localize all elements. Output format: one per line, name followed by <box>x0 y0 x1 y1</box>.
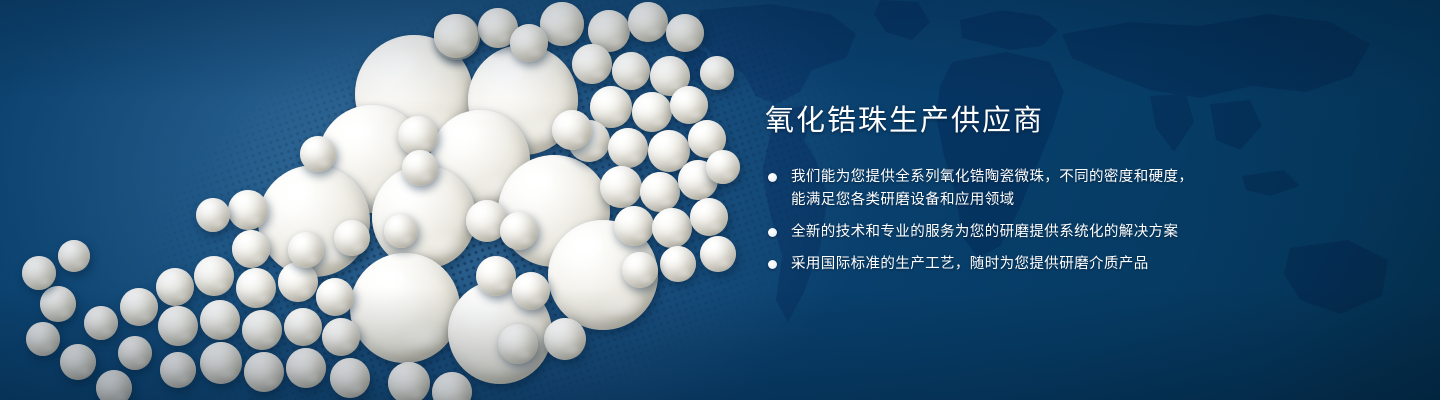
bead-medium <box>700 56 734 90</box>
bead-medium <box>700 236 736 272</box>
bead-medium <box>200 300 240 340</box>
bead-medium <box>118 336 152 370</box>
bead-medium <box>96 370 132 400</box>
bead-medium <box>334 220 370 256</box>
bead-medium <box>632 92 672 132</box>
bead-medium <box>628 2 668 42</box>
bead-medium <box>666 14 704 52</box>
bead-medium <box>84 306 118 340</box>
bead-medium <box>156 268 194 306</box>
bead-medium <box>60 344 96 380</box>
bead-medium <box>26 322 60 356</box>
bead-medium <box>158 306 198 346</box>
page-title: 氧化锆珠生产供应商 <box>765 104 1365 138</box>
bead-medium <box>690 198 728 236</box>
feature-text-line1: 全新的技术和专业的服务为您的研磨提供系统化的解决方案 <box>791 224 1178 240</box>
bead-medium <box>622 252 658 288</box>
bead-medium <box>300 136 336 172</box>
feature-list: 我们能为您提供全系列氧化锆陶瓷微珠，不同的密度和硬度， 能满足您各类研磨设备和应… <box>765 166 1365 276</box>
bead-medium <box>660 246 696 282</box>
bead-medium <box>242 310 282 350</box>
bullet-dot-icon <box>768 228 777 237</box>
bead-medium <box>228 190 268 230</box>
bullet-dot-icon <box>768 173 777 182</box>
bead-medium <box>402 150 438 186</box>
bead-medium <box>544 318 586 360</box>
banner-copy: 氧化锆珠生产供应商 我们能为您提供全系列氧化锆陶瓷微珠，不同的密度和硬度， 能满… <box>765 104 1365 285</box>
bead-medium <box>288 232 324 268</box>
bead-medium <box>322 318 360 356</box>
bead-medium <box>388 362 430 400</box>
bead-medium <box>58 240 90 272</box>
bead-medium <box>120 288 158 326</box>
bead-medium <box>330 358 370 398</box>
bead-medium <box>286 348 326 388</box>
bead-medium <box>670 86 708 124</box>
bead-medium <box>200 342 242 384</box>
list-item: 我们能为您提供全系列氧化锆陶瓷微珠，不同的密度和硬度， 能满足您各类研磨设备和应… <box>765 166 1365 212</box>
bead-medium <box>278 262 318 302</box>
bead-large <box>350 253 460 363</box>
hero-banner: 氧化锆珠生产供应商 我们能为您提供全系列氧化锆陶瓷微珠，不同的密度和硬度， 能满… <box>0 0 1440 400</box>
bead-medium <box>572 44 612 84</box>
bead-medium <box>22 256 56 290</box>
bead-medium <box>512 272 550 310</box>
bead-medium <box>498 324 538 364</box>
bead-medium <box>236 268 276 308</box>
list-item: 采用国际标准的生产工艺，随时为您提供研磨介质产品 <box>765 253 1365 276</box>
bead-medium <box>640 172 680 212</box>
bead-medium <box>432 372 472 400</box>
feature-text-line1: 采用国际标准的生产工艺，随时为您提供研磨介质产品 <box>791 256 1149 272</box>
bead-medium <box>706 150 740 184</box>
bead-medium <box>476 256 516 296</box>
bead-medium <box>194 256 234 296</box>
list-item: 全新的技术和专业的服务为您的研磨提供系统化的解决方案 <box>765 221 1365 244</box>
bead-medium <box>316 278 354 316</box>
bead-medium <box>600 166 642 208</box>
bead-medium <box>40 286 76 322</box>
bead-medium <box>232 230 270 268</box>
feature-text-line2: 能满足您各类研磨设备和应用领域 <box>791 189 1365 212</box>
bead-medium <box>612 52 650 90</box>
bead-medium <box>384 214 418 248</box>
bead-medium <box>244 352 284 392</box>
bead-medium <box>196 198 230 232</box>
feature-text-line1: 我们能为您提供全系列氧化锆陶瓷微珠，不同的密度和硬度， <box>791 169 1193 185</box>
bead-medium <box>552 110 592 150</box>
bead-medium <box>284 308 322 346</box>
bullet-dot-icon <box>768 260 777 269</box>
bead-medium <box>608 128 648 168</box>
zirconia-beads-photo <box>0 0 760 400</box>
bead-medium <box>160 352 196 388</box>
bead-medium <box>614 206 654 246</box>
bead-medium <box>434 14 478 58</box>
bead-medium <box>500 212 538 250</box>
bead-medium <box>510 24 548 62</box>
bead-medium <box>652 208 692 248</box>
